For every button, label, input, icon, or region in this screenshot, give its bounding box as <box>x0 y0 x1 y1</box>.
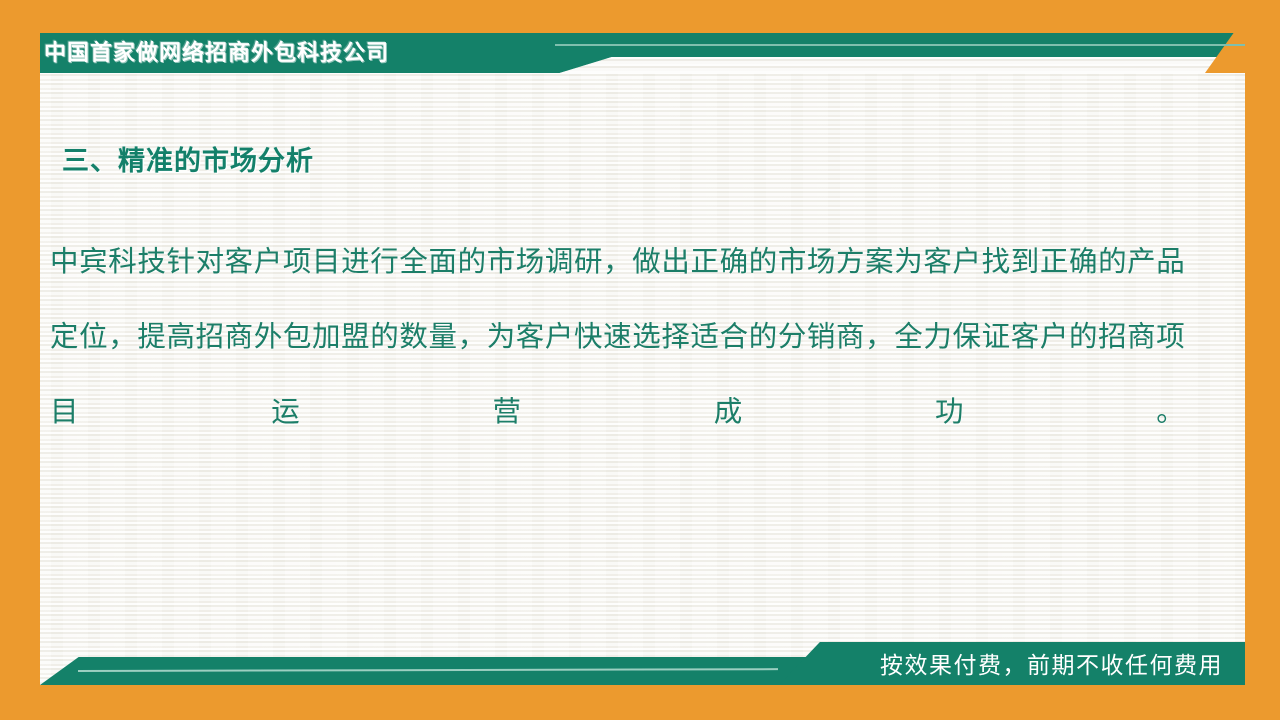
header-band-notch-shape <box>500 57 1245 73</box>
left-orange-frame-strip <box>0 0 40 720</box>
header-accent-line <box>555 44 1245 46</box>
top-orange-frame-strip <box>0 0 1280 33</box>
body-paragraph: 中宾科技针对客户项目进行全面的市场调研，做出正确的市场方案为客户找到正确的产品定… <box>50 224 1185 524</box>
footer-tagline: 按效果付费，前期不收任何费用 <box>880 648 1223 682</box>
header-band-diagonal-cut <box>500 57 1245 73</box>
section-heading: 三、精准的市场分析 <box>62 139 314 178</box>
right-orange-frame-strip <box>1245 0 1280 720</box>
header-title: 中国首家做网络招商外包科技公司 <box>44 34 389 72</box>
slide-canvas: 中国首家做网络招商外包科技公司 三、精准的市场分析 中宾科技针对客户项目进行全面… <box>0 0 1280 720</box>
bottom-orange-frame-strip <box>0 685 1280 720</box>
